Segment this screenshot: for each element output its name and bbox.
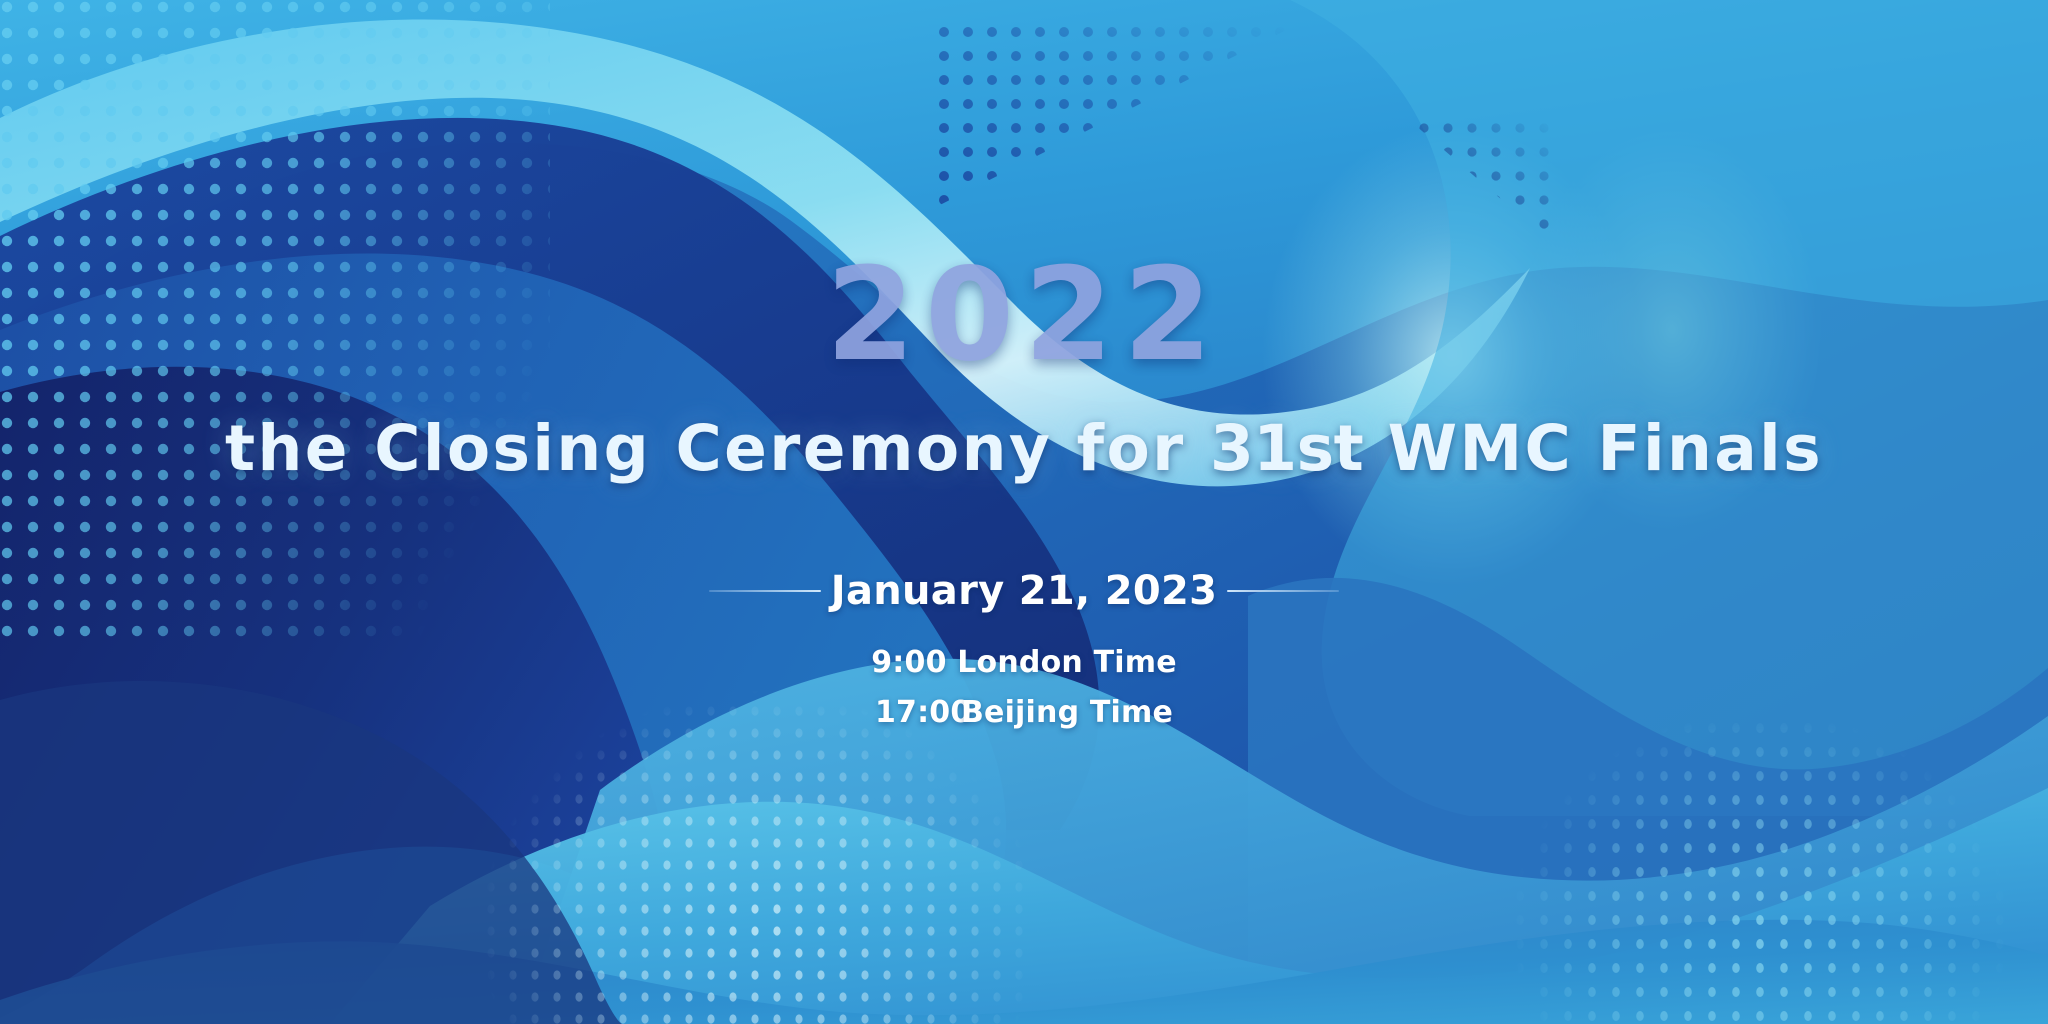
event-date: January 21, 2023 [821,571,1227,611]
poster-content: 2022 the Closing Ceremony for 31st WMC F… [0,0,2048,1024]
headline-part-a: the Closing Ceremony for [225,412,1210,485]
time-row-beijing: 17:00Beijing Time [0,688,2048,738]
poster-canvas: 2022 the Closing Ceremony for 31st WMC F… [0,0,2048,1024]
time-clock-london: 9:00 [871,638,957,688]
date-rule-right [1227,590,1339,592]
time-zone-beijing: Beijing Time [961,688,1173,738]
event-times: 9:00London Time 17:00Beijing Time [0,638,2048,738]
time-zone-london: London Time [957,638,1177,688]
year-label: 2022 [0,252,2048,380]
page-title: the Closing Ceremony for 31st WMC Finals [0,416,2048,482]
headline-part-c: WMC Finals [1363,412,1823,485]
time-row-london: 9:00London Time [0,638,2048,688]
date-rule-left [709,590,821,592]
time-clock-beijing: 17:00 [875,688,961,738]
headline-edition-number: 31st [1210,412,1363,485]
event-date-row: January 21, 2023 [0,571,2048,611]
